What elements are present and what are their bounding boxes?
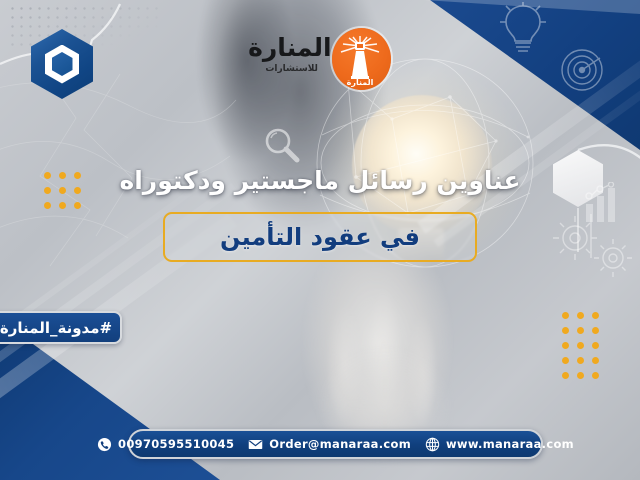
dot bbox=[592, 327, 599, 334]
lightbulb-icon bbox=[500, 2, 546, 54]
dot bbox=[577, 342, 584, 349]
dot bbox=[592, 372, 599, 379]
whatsapp-phone-icon bbox=[97, 437, 112, 452]
footer-phone[interactable]: 00970595510045 bbox=[97, 437, 234, 452]
footer-phone-text: 00970595510045 bbox=[118, 437, 234, 451]
hexagon-logo-inner bbox=[45, 45, 79, 84]
target-rings-icon bbox=[560, 48, 604, 92]
dot bbox=[562, 372, 569, 379]
globe-icon bbox=[425, 437, 440, 452]
dot bbox=[592, 357, 599, 364]
dot bbox=[59, 202, 66, 209]
dot bbox=[74, 202, 81, 209]
page-title: عناوين رسائل ماجستير ودكتوراه bbox=[0, 166, 640, 195]
brand-wordmark: المنارة للاستشارات bbox=[255, 29, 332, 89]
lighthouse-mark-label: المنارة bbox=[347, 78, 374, 87]
dot bbox=[577, 357, 584, 364]
hashtag-label: #مدونة_المنارة bbox=[0, 319, 112, 337]
page-subtitle: في عقود التأمين bbox=[220, 223, 420, 251]
dot bbox=[577, 312, 584, 319]
dot-grid-right bbox=[562, 312, 599, 379]
subtitle-box: في عقود التأمين bbox=[163, 212, 477, 262]
brand-logo: المنارة المنارة للاستشارات bbox=[255, 26, 395, 92]
dot bbox=[577, 372, 584, 379]
banner-canvas: المنارة المنارة للاستشارات عناوين رسائل … bbox=[0, 0, 640, 480]
dot bbox=[562, 357, 569, 364]
hexagon-logo-core bbox=[52, 52, 73, 76]
footer-email-text: Order@manaraa.com bbox=[269, 437, 411, 451]
dot bbox=[577, 327, 584, 334]
dot bbox=[592, 342, 599, 349]
dot bbox=[562, 327, 569, 334]
envelope-icon bbox=[248, 437, 263, 452]
dot bbox=[562, 312, 569, 319]
brand-tagline: للاستشارات bbox=[254, 64, 330, 74]
footer-email[interactable]: Order@manaraa.com bbox=[248, 437, 411, 452]
contact-footer-bar: www.manaraa.com Order@manaraa.com 009705… bbox=[128, 429, 543, 459]
footer-website-text: www.manaraa.com bbox=[446, 437, 574, 451]
dot bbox=[44, 202, 51, 209]
magnifier-icon bbox=[262, 126, 302, 166]
dot bbox=[592, 312, 599, 319]
footer-website[interactable]: www.manaraa.com bbox=[425, 437, 574, 452]
hashtag-badge[interactable]: #مدونة_المنارة bbox=[0, 311, 122, 344]
dot bbox=[562, 342, 569, 349]
lighthouse-icon: المنارة bbox=[332, 28, 391, 90]
brand-name: المنارة bbox=[252, 35, 332, 60]
gears-icon bbox=[545, 208, 637, 282]
